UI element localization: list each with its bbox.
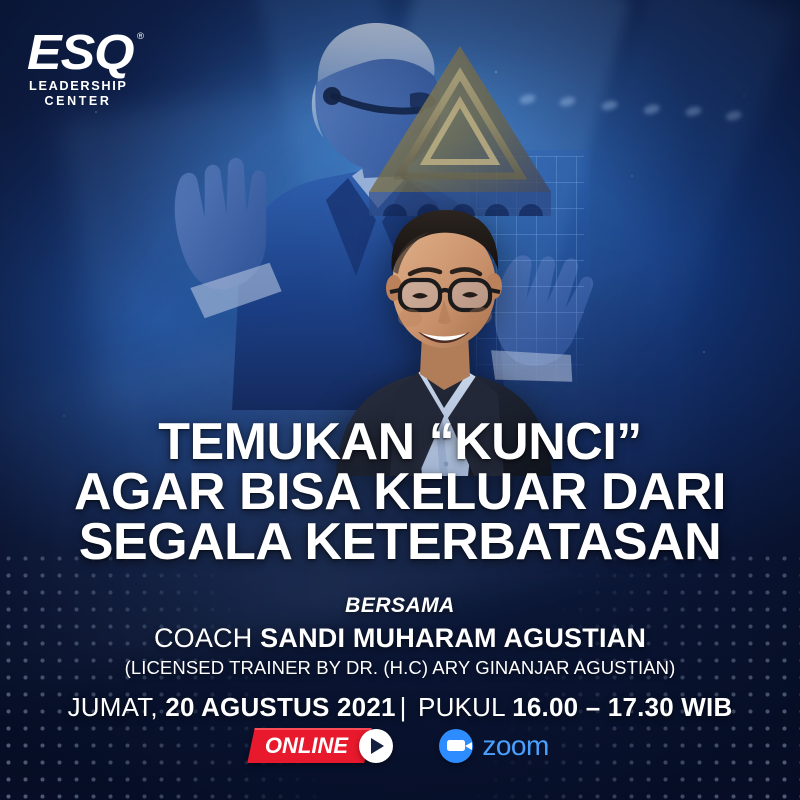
- video-camera-icon: [439, 729, 473, 763]
- registered-mark-icon: ®: [137, 32, 143, 40]
- credits-block: BERSAMA COACH SANDI MUHARAM AGUSTIAN (LI…: [0, 594, 800, 679]
- headline-line-1: TEMUKAN “KUNCI”: [0, 418, 800, 468]
- logo-line-center: CENTER: [30, 94, 126, 108]
- coach-prefix: COACH: [154, 623, 260, 653]
- logo-wordmark: ESQ®: [27, 30, 134, 76]
- zoom-label: zoom: [482, 730, 548, 762]
- schedule-line: JUMAT, 20 AGUSTUS 2021| PUKUL 16.00 – 17…: [0, 692, 800, 723]
- headline-line-3: SEGALA KETERBATASAN: [0, 518, 800, 568]
- platform-badges: ONLINE zoom: [0, 728, 800, 763]
- online-badge: ONLINE: [251, 728, 393, 763]
- play-icon[interactable]: [359, 729, 393, 763]
- online-tag: ONLINE: [247, 728, 372, 763]
- headline: TEMUKAN “KUNCI” AGAR BISA KELUAR DARI SE…: [0, 418, 800, 568]
- coach-line: COACH SANDI MUHARAM AGUSTIAN: [0, 623, 800, 654]
- coach-name: SANDI MUHARAM AGUSTIAN: [260, 623, 646, 653]
- zoom-badge: zoom: [439, 729, 548, 763]
- bersama-label: BERSAMA: [0, 594, 800, 618]
- licensed-trainer-line: (LICENSED TRAINER BY DR. (H.C) ARY GINAN…: [0, 657, 800, 679]
- schedule-date: 20 AGUSTUS 2021: [165, 692, 395, 722]
- vignette-overlay: [0, 0, 800, 800]
- logo-text: ESQ: [27, 26, 134, 80]
- schedule-day: JUMAT,: [68, 692, 166, 722]
- esq-logo: ESQ® LEADERSHIP CENTER: [30, 30, 126, 108]
- schedule-time-prefix: PUKUL: [411, 692, 513, 722]
- headline-line-2: AGAR BISA KELUAR DARI: [0, 468, 800, 518]
- schedule-separator: |: [396, 692, 411, 722]
- logo-line-leadership: LEADERSHIP: [29, 79, 127, 93]
- schedule-time: 16.00 – 17.30 WIB: [512, 692, 732, 722]
- online-label: ONLINE: [265, 733, 348, 759]
- promo-poster: ESQ® LEADERSHIP CENTER TEMUKAN “KUNCI” A…: [0, 0, 800, 800]
